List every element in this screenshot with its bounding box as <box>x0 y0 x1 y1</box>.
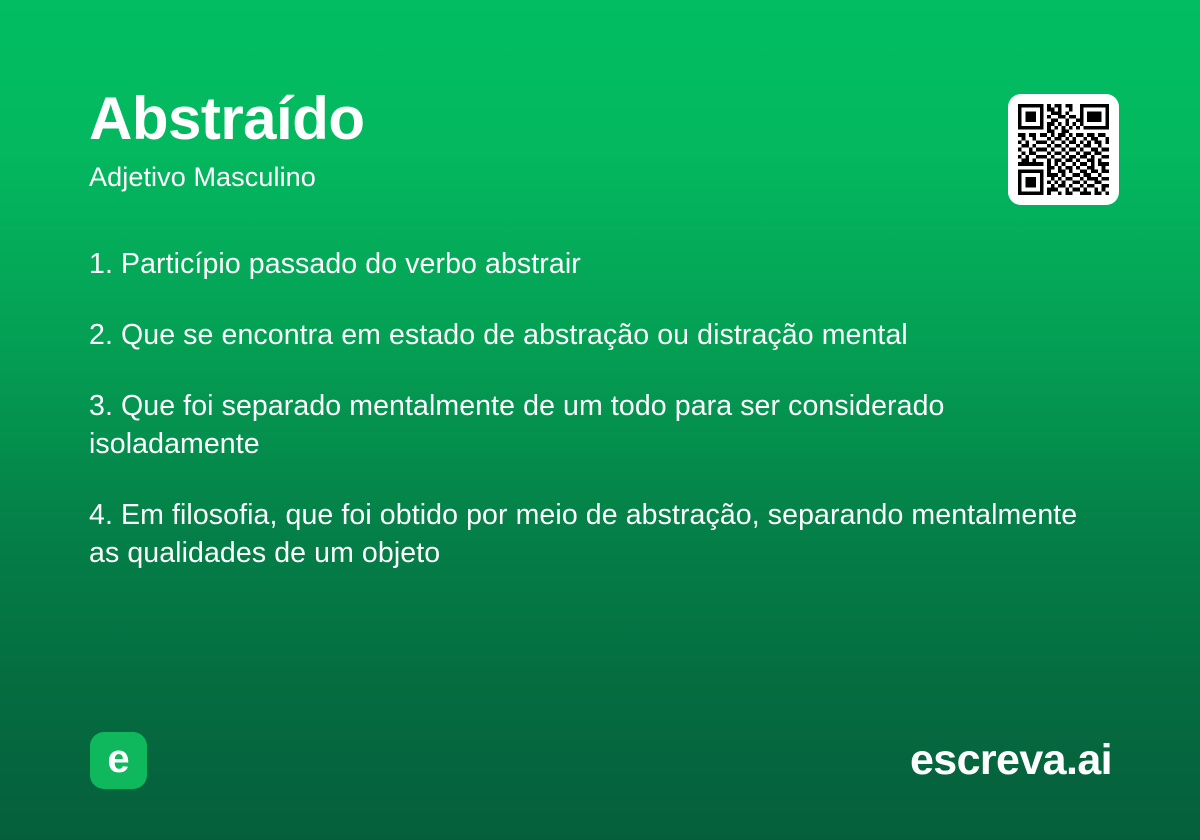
definition-list: 1. Particípio passado do verbo abstrair … <box>89 245 1099 572</box>
qr-code[interactable] <box>1008 94 1119 205</box>
list-item: 1. Particípio passado do verbo abstrair <box>89 245 1099 283</box>
list-item: 3. Que foi separado mentalmente de um to… <box>89 387 1099 463</box>
word-class-label: Adjetivo Masculino <box>89 152 969 194</box>
card-footer: e escreva.ai <box>0 732 1200 790</box>
brand-logo: e <box>90 732 147 789</box>
list-item: 2. Que se encontra em estado de abstraçã… <box>89 316 1099 354</box>
brand-wordmark: escreva.ai <box>910 734 1112 786</box>
card-header: Abstraído Adjetivo Masculino <box>89 86 969 194</box>
dictionary-card: Abstraído Adjetivo Masculino 1. Particíp… <box>0 0 1200 840</box>
list-item: 4. Em filosofia, que foi obtido por meio… <box>89 496 1099 572</box>
brand-logo-letter: e <box>107 739 129 779</box>
qr-code-icon <box>1018 104 1109 195</box>
page-title: Abstraído <box>89 86 969 152</box>
